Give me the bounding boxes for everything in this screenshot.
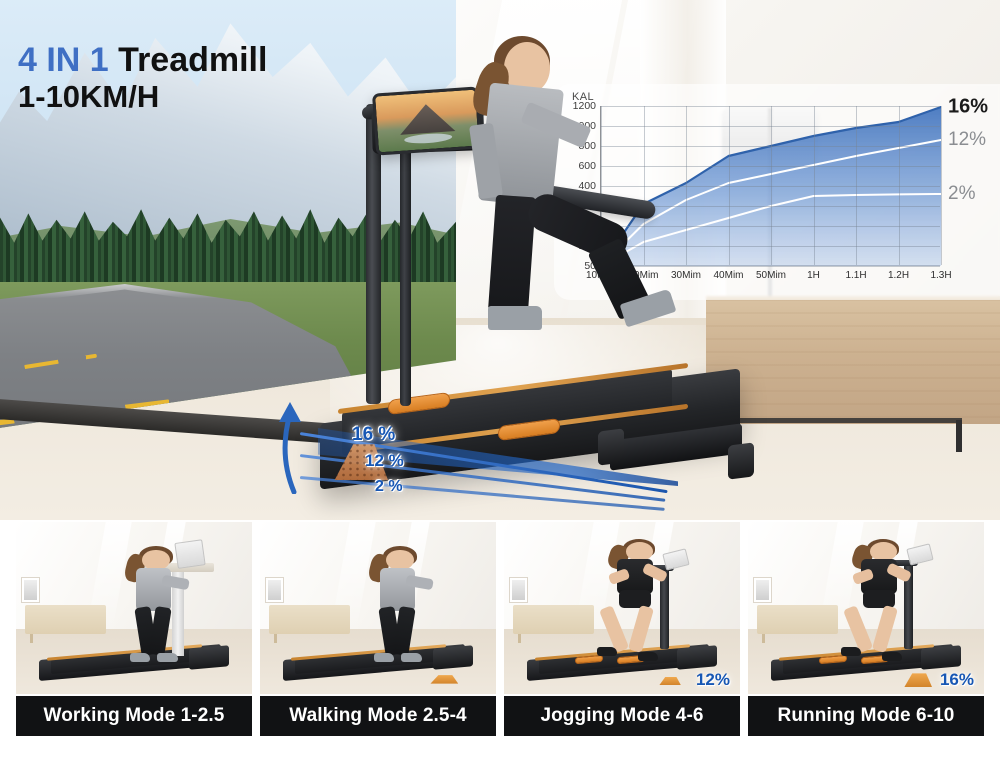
treadmill-upright-post bbox=[400, 120, 411, 406]
chart-gridline-v bbox=[941, 106, 942, 265]
mini-motor-cover bbox=[189, 645, 229, 669]
leg bbox=[392, 606, 415, 656]
incline-up-arrow-icon bbox=[276, 398, 324, 494]
headline-line-2: 1-10KM/H bbox=[18, 79, 267, 116]
shoe bbox=[130, 653, 151, 662]
shoe bbox=[157, 653, 178, 662]
shoe bbox=[882, 652, 902, 661]
panel-cabinet bbox=[25, 605, 105, 634]
shorts bbox=[863, 590, 895, 607]
product-marketing-image: 4 IN 1 Treadmill 1-10KM/H KAL 5010020030… bbox=[0, 0, 1000, 768]
wall-picture-frame bbox=[21, 577, 40, 603]
torso bbox=[380, 568, 415, 611]
chart-x-tick: 1.2H bbox=[888, 270, 909, 281]
leg bbox=[628, 605, 654, 653]
panel-cabinet bbox=[269, 605, 349, 634]
chart-legend-12pct: 12% bbox=[948, 129, 986, 151]
shoe bbox=[401, 653, 422, 662]
mode-caption: Walking Mode 2.5-4 bbox=[260, 696, 496, 736]
mode-caption: Jogging Mode 4-6 bbox=[504, 696, 740, 736]
person-figure bbox=[359, 546, 439, 673]
shoe bbox=[841, 647, 861, 656]
torso bbox=[136, 568, 171, 611]
incline-badge-2: 2 % bbox=[375, 478, 403, 496]
chart-legend-16pct: 16% bbox=[948, 96, 988, 119]
wall-picture-frame bbox=[265, 577, 284, 603]
shoe bbox=[488, 306, 542, 330]
sideboard-leg bbox=[956, 420, 962, 452]
leg bbox=[843, 605, 873, 653]
mode-panel-2[interactable]: Walking Mode 2.5-4 bbox=[260, 522, 496, 736]
person-figure bbox=[594, 539, 679, 673]
incline-badge-12: 12 % bbox=[365, 451, 404, 471]
chart-gridline-v bbox=[814, 106, 815, 265]
mode-photo bbox=[16, 522, 252, 694]
mode-photo bbox=[260, 522, 496, 694]
person-figure bbox=[115, 546, 195, 673]
headline-line-1: 4 IN 1 Treadmill bbox=[18, 42, 267, 79]
mode-incline-badge: 16% bbox=[940, 670, 974, 690]
mode-caption: Running Mode 6-10 bbox=[748, 696, 984, 736]
chart-x-tick: 1.1H bbox=[845, 270, 866, 281]
mini-motor-cover bbox=[433, 645, 473, 669]
treadmill-end-cap bbox=[598, 428, 624, 465]
wall-picture-frame bbox=[753, 577, 772, 603]
wall-picture-frame bbox=[509, 577, 528, 603]
shoe bbox=[374, 653, 395, 662]
hero-runner-figure bbox=[452, 28, 682, 408]
panel-cabinet bbox=[513, 605, 593, 634]
mini-motor-cover bbox=[921, 645, 961, 669]
mode-photo bbox=[504, 522, 740, 694]
mode-panel-1[interactable]: Working Mode 1-2.5 bbox=[16, 522, 252, 736]
mode-photo bbox=[748, 522, 984, 694]
chart-legend-2pct: 2% bbox=[948, 183, 975, 205]
headline-highlight: 4 IN 1 bbox=[18, 41, 109, 79]
mode-panels-row: Working Mode 1-2.5 bbox=[0, 522, 1000, 768]
chart-gridline-v bbox=[899, 106, 900, 265]
chart-gridline-v bbox=[856, 106, 857, 265]
shorts bbox=[619, 590, 651, 607]
headline-product: Treadmill bbox=[118, 41, 267, 79]
leg bbox=[148, 606, 171, 656]
incline-badge-16: 16 % bbox=[352, 424, 395, 446]
person-figure bbox=[838, 539, 923, 673]
mode-incline-badge: 12% bbox=[696, 670, 730, 690]
shoe bbox=[638, 652, 658, 661]
mode-panel-4[interactable]: 16% Running Mode 6-10 bbox=[748, 522, 984, 736]
head bbox=[870, 542, 897, 561]
chart-x-tick: 1H bbox=[807, 270, 820, 281]
treadmill-end-cap bbox=[728, 442, 754, 479]
mini-motor-cover bbox=[677, 645, 717, 669]
leg bbox=[599, 605, 629, 653]
head bbox=[626, 542, 653, 561]
hero-section: 4 IN 1 Treadmill 1-10KM/H KAL 5010020030… bbox=[0, 0, 1000, 520]
chart-x-tick: 1.3H bbox=[930, 270, 951, 281]
shoe bbox=[597, 647, 617, 656]
panel-cabinet bbox=[757, 605, 837, 634]
leg bbox=[872, 605, 898, 653]
mode-caption: Working Mode 1-2.5 bbox=[16, 696, 252, 736]
headline-block: 4 IN 1 Treadmill 1-10KM/H bbox=[18, 42, 267, 115]
mode-panel-3[interactable]: 12% Jogging Mode 4-6 bbox=[504, 522, 740, 736]
